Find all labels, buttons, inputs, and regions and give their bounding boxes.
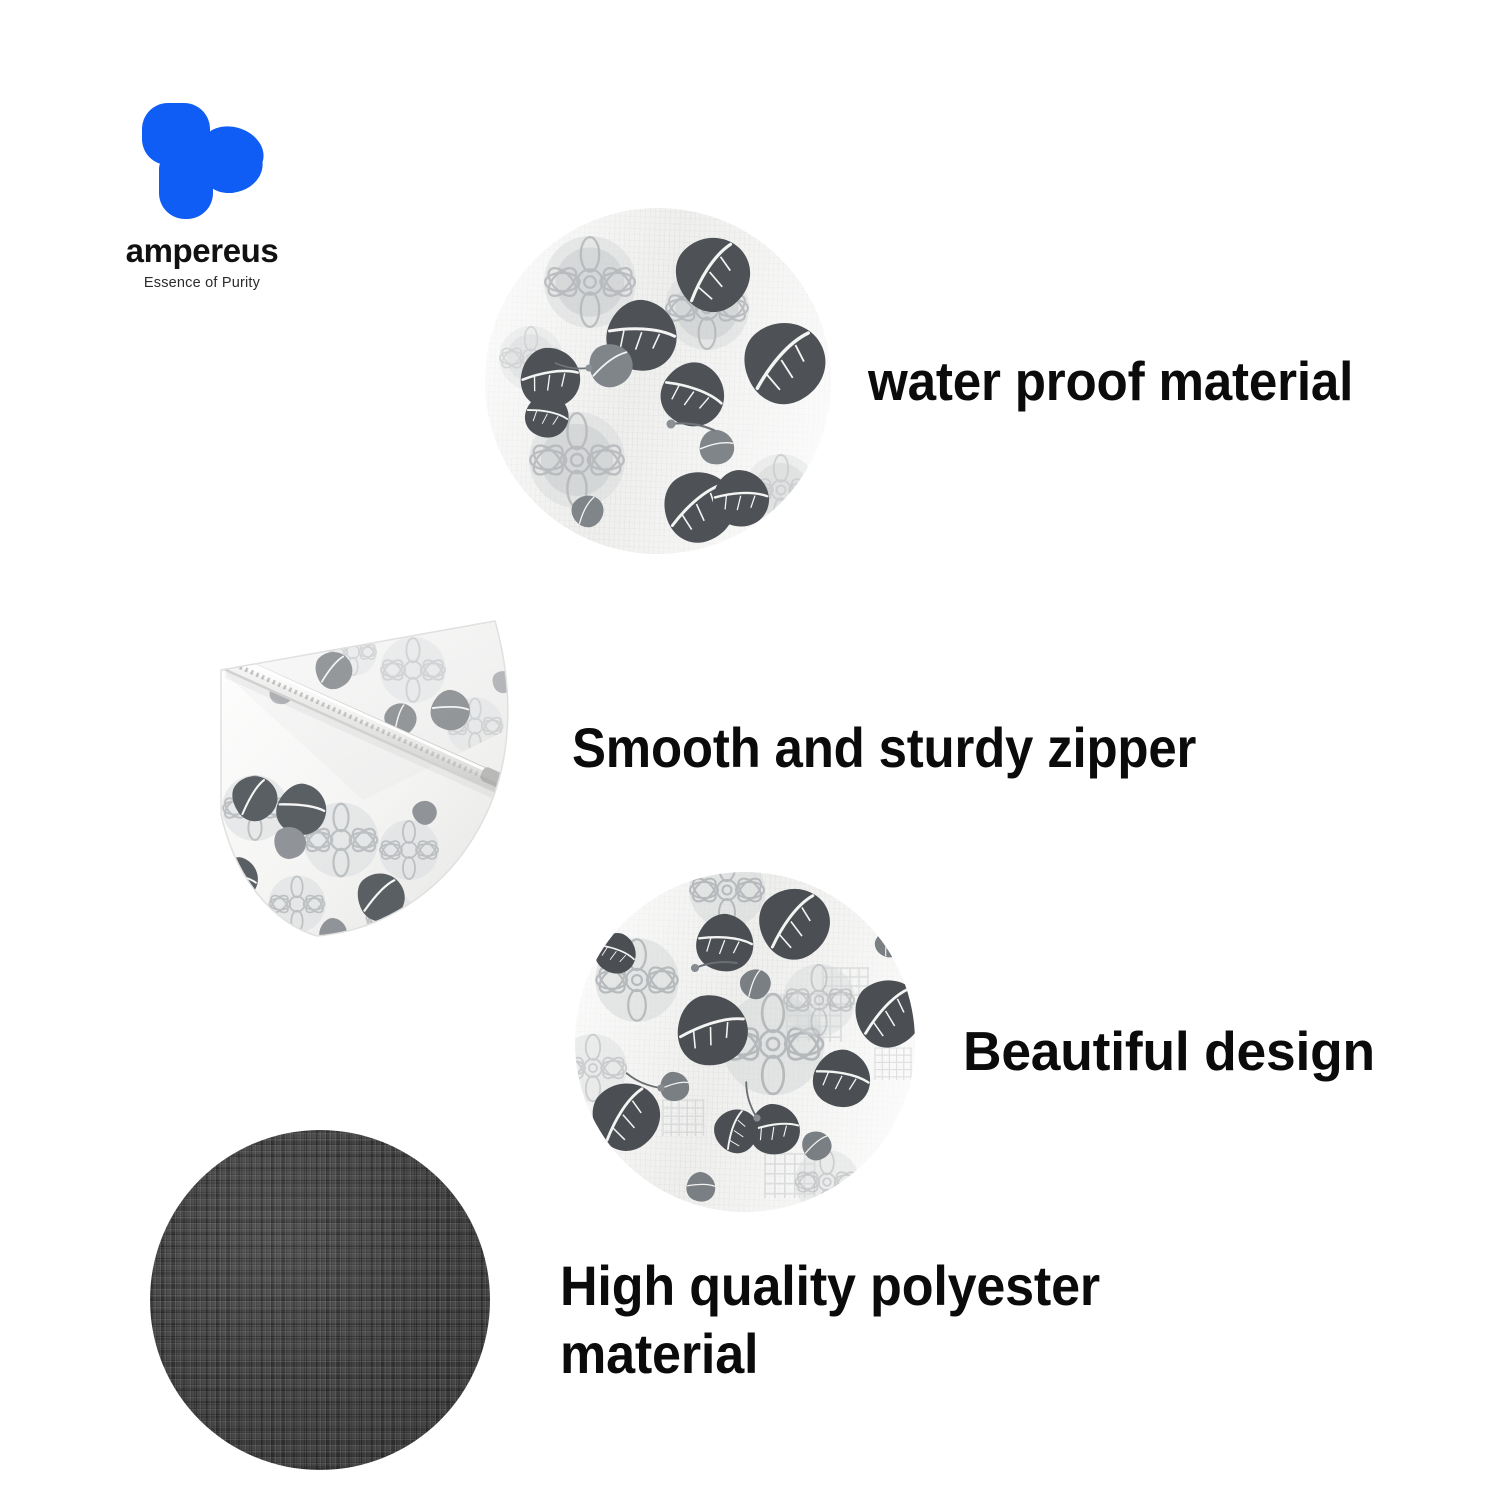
zippered-pouch-product-photo [213,618,528,938]
floral-design-swatch-circle [575,872,915,1212]
feature-label-waterproof: water proof material [868,348,1353,415]
floral-pattern-artwork [485,208,831,554]
brand-tagline: Essence of Purity [112,276,292,291]
floral-fabric-swatch-circle [485,208,831,554]
pouch-artwork [213,618,528,938]
infographic-canvas: ampereus Essence of Purity [0,0,1500,1500]
feature-label-polyester: High quality polyester material [560,1252,1267,1389]
dark-polyester-swatch-circle [150,1130,490,1470]
brand-name: ampereus [112,234,292,267]
four-petal-flower-icon [140,100,265,220]
brand-logo: ampereus Essence of Purity [112,100,292,291]
feature-label-design: Beautiful design [963,1018,1375,1085]
floral-design-artwork [575,872,915,1212]
feature-label-zipper: Smooth and sturdy zipper [572,714,1196,782]
